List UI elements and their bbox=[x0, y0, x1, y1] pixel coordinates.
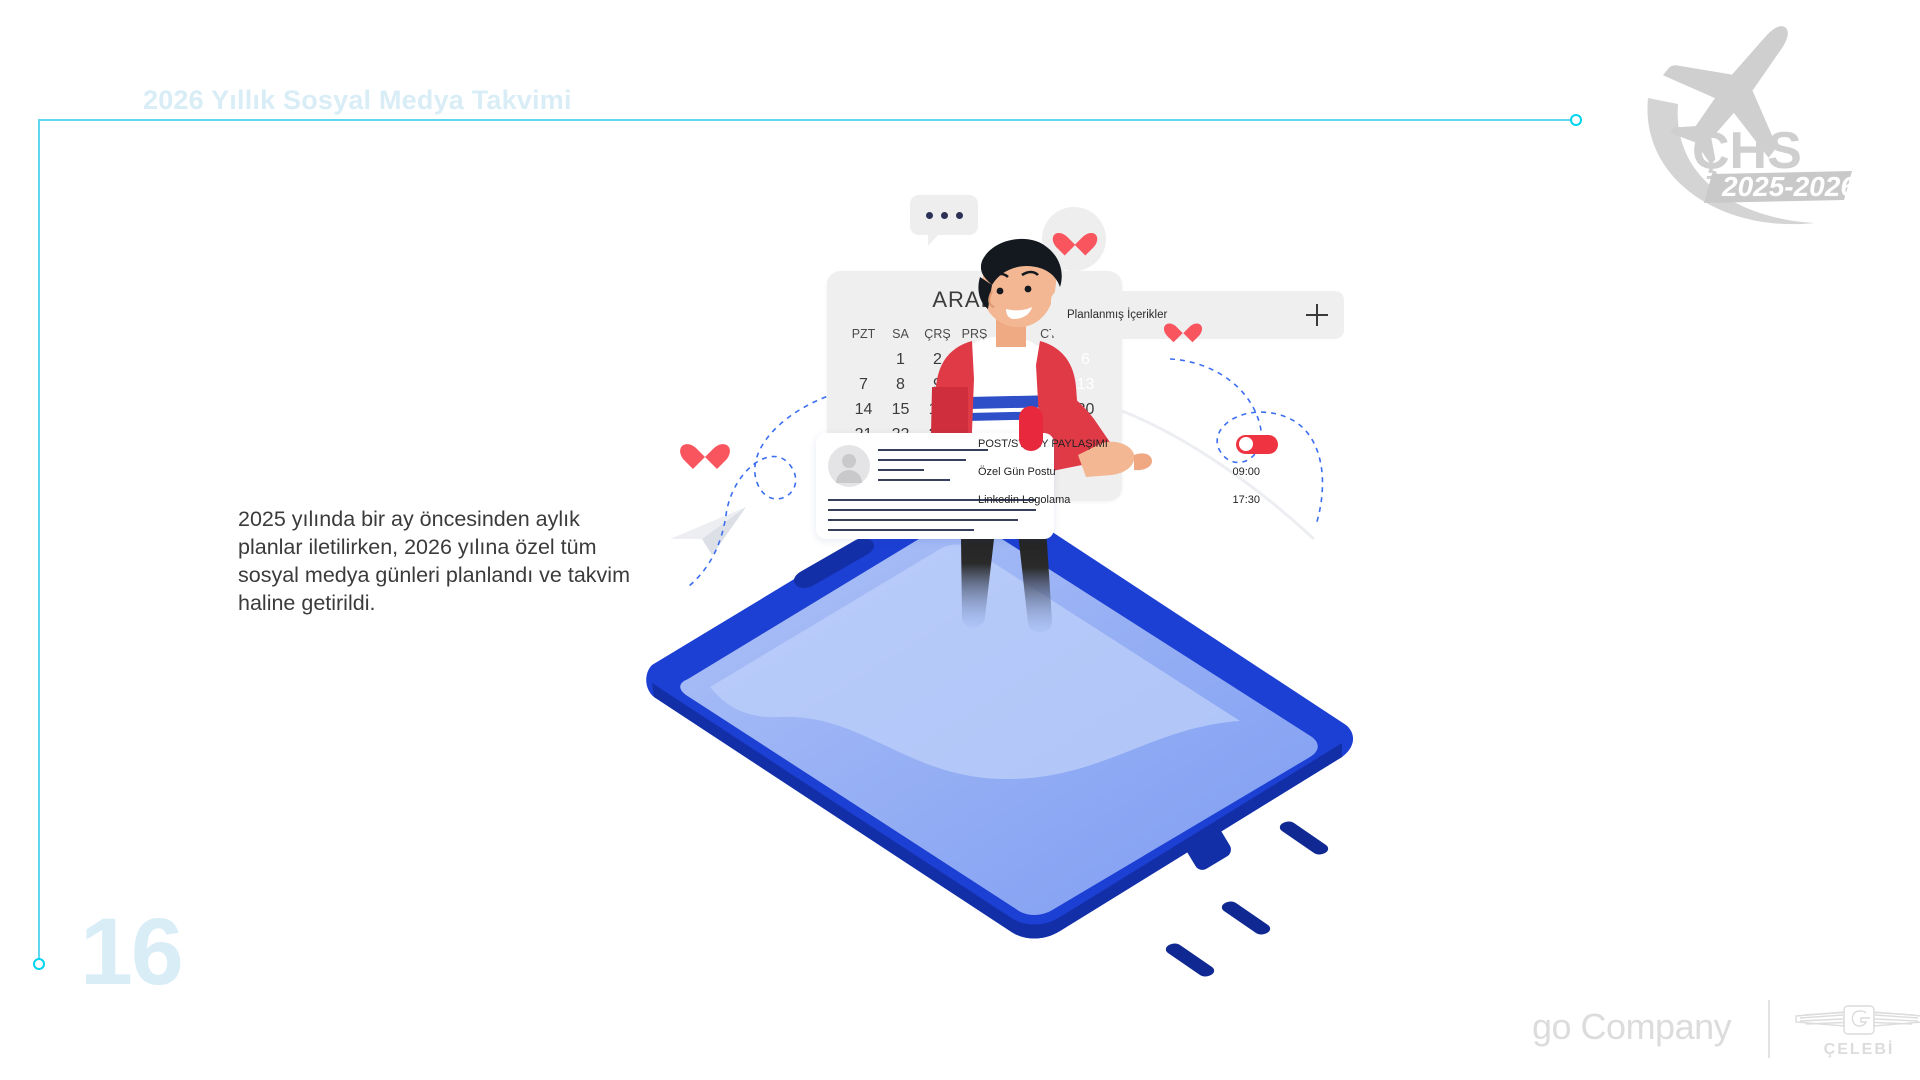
body-copy: 2025 yılında bir ay öncesinden aylık pla… bbox=[238, 505, 648, 617]
schedule-row-time: 17:30 bbox=[1232, 494, 1278, 506]
post-line bbox=[878, 469, 924, 471]
typing-dot bbox=[956, 212, 963, 219]
chs-logo: ÇHS 2025-2026 bbox=[1630, 8, 1920, 228]
heart-icon bbox=[1170, 315, 1196, 338]
schedule-row[interactable]: Özel Gün Postu 09:00 bbox=[978, 458, 1278, 486]
page-title: 2026 Yıllık Sosyal Medya Takvimi bbox=[143, 85, 572, 116]
frame-top-line bbox=[38, 119, 1571, 121]
body-paragraph: 2025 yılında bir ay öncesinden aylık pla… bbox=[238, 505, 648, 617]
calendar-day-cell[interactable]: 14 bbox=[845, 399, 882, 420]
calendar-day-cell[interactable]: 13 bbox=[1067, 374, 1104, 395]
frame-left-line bbox=[38, 119, 40, 964]
calendar-day-cell[interactable]: 7 bbox=[845, 374, 882, 395]
schedule-row-time: 09:00 bbox=[1232, 466, 1278, 478]
post-body-line bbox=[828, 529, 974, 531]
post-line bbox=[878, 459, 966, 461]
chs-logo-svg: ÇHS 2025-2026 bbox=[1630, 8, 1920, 228]
footer-logos: go Company ÇELEBİ bbox=[1532, 1000, 1912, 1062]
slide-root: 2026 Yıllık Sosyal Medya Takvimi 2025 yı… bbox=[0, 0, 1920, 1080]
schedule-toggle-knob bbox=[1239, 437, 1253, 451]
go-company-logo: go Company bbox=[1532, 1006, 1731, 1048]
typing-dot bbox=[941, 212, 948, 219]
heart-icon bbox=[688, 433, 722, 463]
post-line bbox=[878, 479, 950, 481]
avatar bbox=[828, 445, 870, 487]
schedule-row[interactable]: Linkedin Logolama 17:30 bbox=[978, 486, 1278, 514]
typing-bubble bbox=[910, 195, 978, 235]
schedule-row-label: Özel Gün Postu bbox=[978, 466, 1056, 478]
post-line bbox=[878, 449, 988, 451]
illustration: ARALIK PZTSAÇRŞPRŞCUCTPZ1234567891011121… bbox=[640, 175, 1640, 1005]
calendar-day-header: PZT bbox=[845, 327, 882, 345]
highlight-pill bbox=[1019, 406, 1043, 451]
planned-content-label: Planlanmış İçerikler bbox=[1067, 309, 1167, 321]
schedule-toggle[interactable] bbox=[1236, 435, 1278, 454]
calendar-cell-empty bbox=[845, 349, 882, 370]
typing-dot bbox=[926, 212, 933, 219]
calendar-day-cell[interactable]: 6 bbox=[1067, 349, 1104, 370]
page-number: 16 bbox=[80, 905, 182, 1000]
celebi-logo-svg: ÇELEBİ bbox=[1794, 1002, 1920, 1060]
frame-endpoint-bottom bbox=[33, 958, 45, 970]
chs-years-banner: 2025-2026 bbox=[1704, 171, 1856, 203]
footer-divider bbox=[1768, 1000, 1770, 1058]
celebi-wordmark: ÇELEBİ bbox=[1824, 1040, 1895, 1058]
celebi-logo: ÇELEBİ bbox=[1794, 1002, 1920, 1060]
schedule-row-label: Linkedin Logolama bbox=[978, 494, 1070, 506]
frame-endpoint-right bbox=[1570, 114, 1582, 126]
plus-icon[interactable] bbox=[1306, 304, 1328, 326]
chs-years-text: 2025-2026 bbox=[1721, 171, 1856, 202]
